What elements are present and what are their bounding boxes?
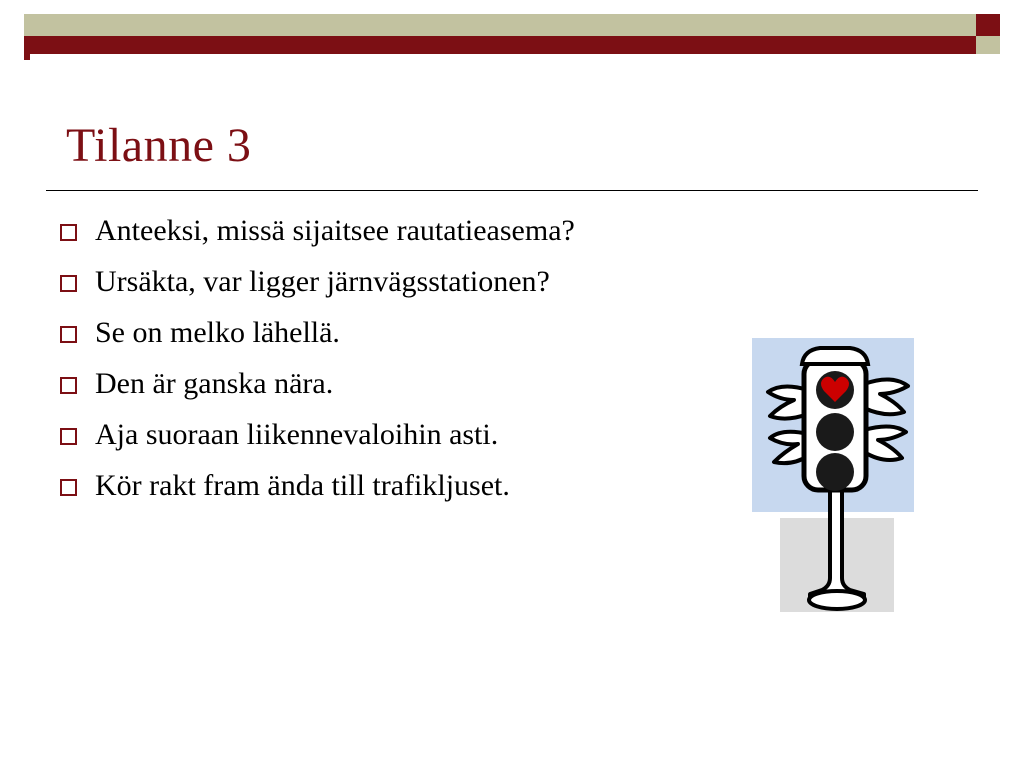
list-item: Den är ganska nära. [60,366,760,402]
square-bullet-icon [60,479,77,496]
square-bullet-icon [60,428,77,445]
list-item: Ursäkta, var ligger järnvägsstationen? [60,264,760,300]
list-item-label: Se on melko lähellä. [95,315,340,351]
square-bullet-icon [60,224,77,241]
list-item-label: Anteeksi, missä sijaitsee rautatieasema? [95,213,575,249]
slide-top-banner [0,0,1024,72]
title-divider [46,190,978,191]
list-item: Se on melko lähellä. [60,315,760,351]
square-bullet-icon [60,377,77,394]
list-item-label: Aja suoraan liikennevaloihin asti. [95,417,498,453]
square-bullet-icon [60,326,77,343]
banner-left-stub [24,54,30,60]
traffic-light-icon [752,338,922,618]
list-item: Aja suoraan liikennevaloihin asti. [60,417,760,453]
banner-dark-bar [24,36,976,54]
list-item: Kör rakt fram ända till trafikljuset. [60,468,760,504]
list-item: Anteeksi, missä sijaitsee rautatieasema? [60,213,760,249]
list-item-label: Den är ganska nära. [95,366,333,402]
page-title: Tilanne 3 [66,118,251,173]
square-bullet-icon [60,275,77,292]
banner-khaki-bar [24,14,976,36]
banner-corner-square-dark [976,14,1000,36]
bullet-list: Anteeksi, missä sijaitsee rautatieasema?… [60,213,760,519]
banner-corner-square-khaki [976,36,1000,54]
list-item-label: Kör rakt fram ända till trafikljuset. [95,468,510,504]
traffic-light-illustration [752,338,922,618]
list-item-label: Ursäkta, var ligger järnvägsstationen? [95,264,550,300]
